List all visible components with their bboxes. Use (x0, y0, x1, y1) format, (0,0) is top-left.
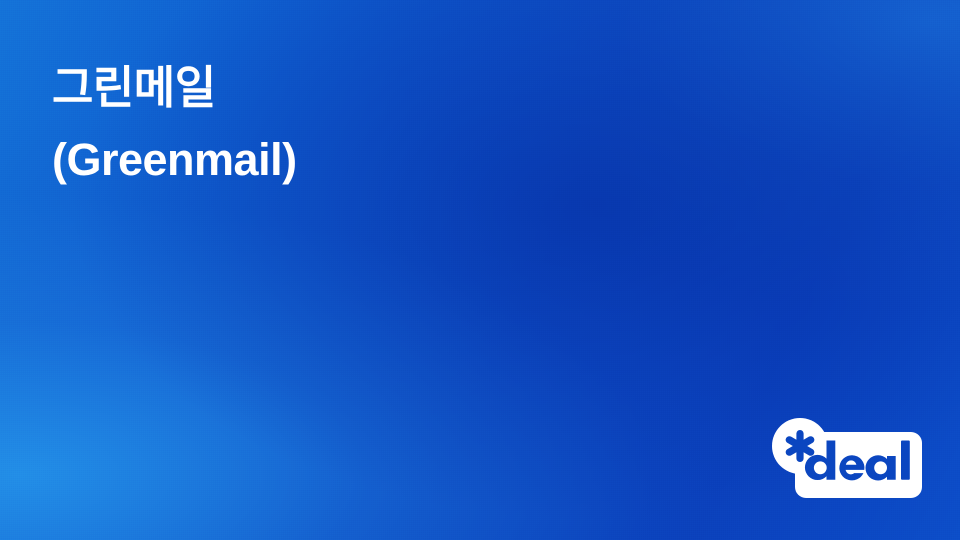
title-slide: 그린메일 (Greenmail) (0, 0, 960, 540)
page-title: 그린메일 (Greenmail) (52, 52, 297, 196)
title-line-korean: 그린메일 (52, 52, 297, 124)
brand-logo (770, 416, 922, 498)
title-line-english: (Greenmail) (52, 124, 297, 196)
